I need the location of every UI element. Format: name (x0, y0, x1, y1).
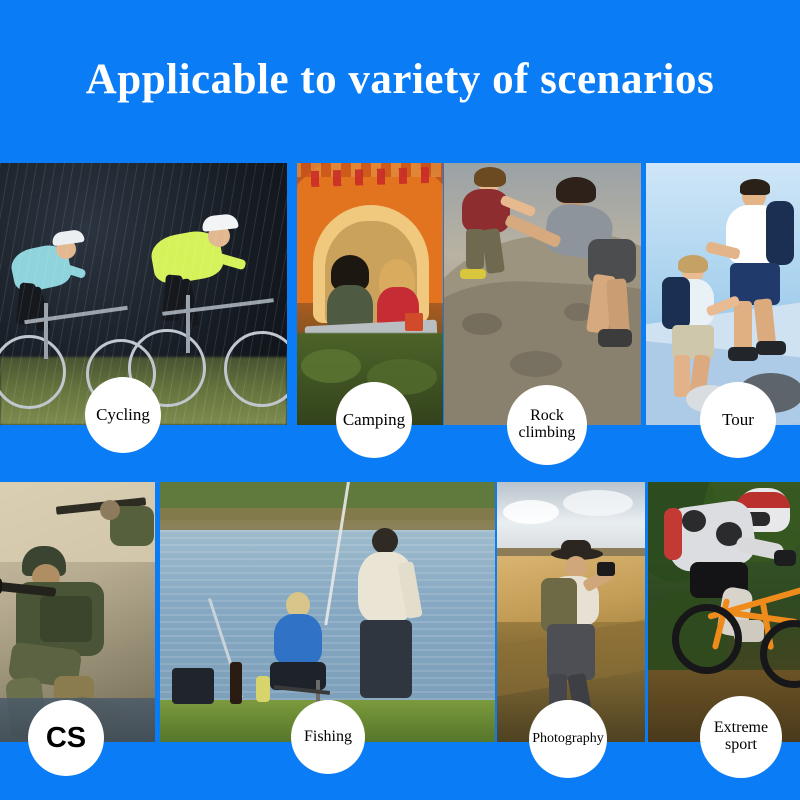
scenario-label-cycling[interactable]: Cycling (85, 377, 161, 453)
scenario-label-tour[interactable]: Tour (700, 382, 776, 458)
scenario-label-camping[interactable]: Camping (336, 382, 412, 458)
scenario-label-rock-climbing[interactable]: Rock climbing (507, 385, 587, 465)
page-title: Applicable to variety of scenarios (0, 55, 800, 104)
scenarios-infographic: Applicable to variety of scenarios (0, 0, 800, 800)
scenario-label-extreme-sport[interactable]: Extreme sport (700, 696, 782, 778)
scenario-label-cs[interactable]: CS (28, 700, 104, 776)
scenario-label-fishing[interactable]: Fishing (291, 700, 365, 774)
scenario-label-photography[interactable]: Photography (529, 700, 607, 778)
